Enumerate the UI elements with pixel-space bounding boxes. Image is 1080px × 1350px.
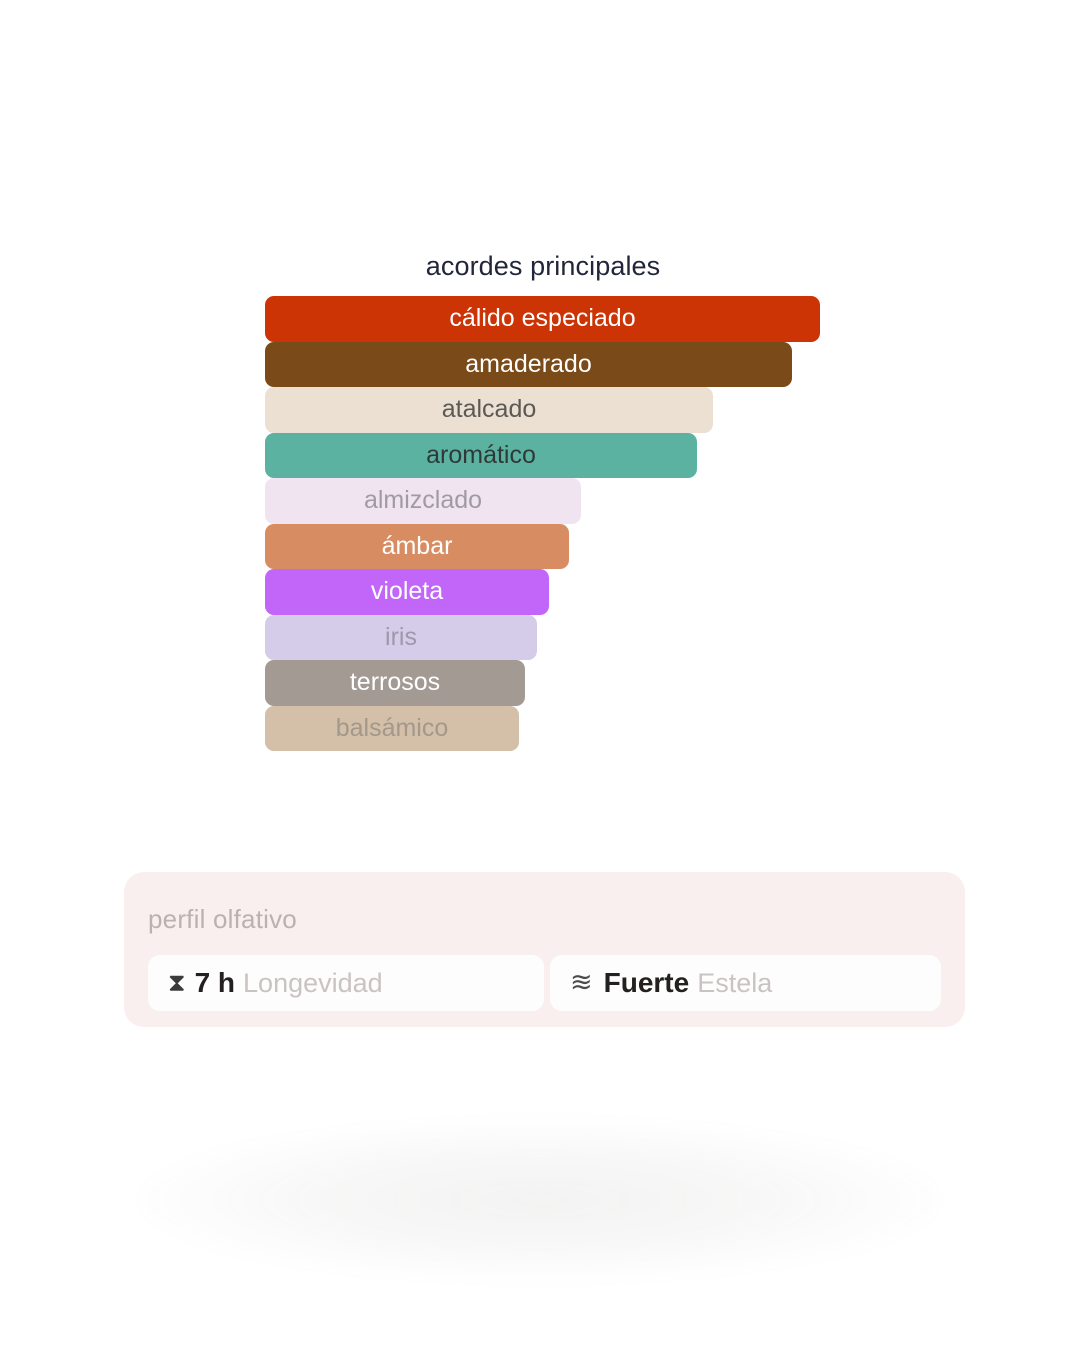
- bar-iris[interactable]: iris: [265, 615, 537, 661]
- bar-label: balsámico: [336, 716, 449, 741]
- wave-icon: ≋: [570, 969, 593, 996]
- bar-row: aromático: [265, 433, 834, 479]
- bar-label: violeta: [371, 579, 443, 604]
- accords-bar-list: cálido especiado amaderado atalcado arom…: [265, 296, 834, 751]
- bar-label: iris: [385, 625, 417, 650]
- longevity-value: 7 h: [195, 967, 235, 999]
- bar-row: balsámico: [265, 706, 834, 752]
- bar-balsamico[interactable]: balsámico: [265, 706, 519, 752]
- bar-label: cálido especiado: [449, 306, 635, 331]
- metric-sillage[interactable]: ≋ Fuerte Estela: [550, 955, 941, 1011]
- bar-row: terrosos: [265, 660, 834, 706]
- bottom-shadow: [140, 1120, 940, 1280]
- longevity-caption: Longevidad: [243, 968, 383, 999]
- bar-label: atalcado: [442, 397, 537, 422]
- bar-row: ámbar: [265, 524, 834, 570]
- bar-label: almizclado: [364, 488, 482, 513]
- hourglass-icon: ⧗: [168, 971, 186, 996]
- bar-amaderado[interactable]: amaderado: [265, 342, 792, 388]
- bar-row: amaderado: [265, 342, 834, 388]
- metric-longevity[interactable]: ⧗ 7 h Longevidad: [148, 955, 544, 1011]
- bar-row: iris: [265, 615, 834, 661]
- bar-terrosos[interactable]: terrosos: [265, 660, 525, 706]
- bar-calido-especiado[interactable]: cálido especiado: [265, 296, 820, 342]
- bar-row: cálido especiado: [265, 296, 834, 342]
- sillage-caption: Estela: [697, 968, 772, 999]
- bar-atalcado[interactable]: atalcado: [265, 387, 713, 433]
- bar-ambar[interactable]: ámbar: [265, 524, 569, 570]
- accords-chart-card: acordes principales cálido especiado ama…: [252, 243, 834, 773]
- bar-row: atalcado: [265, 387, 834, 433]
- bar-row: violeta: [265, 569, 834, 615]
- bar-almizclado[interactable]: almizclado: [265, 478, 581, 524]
- bar-label: terrosos: [350, 670, 440, 695]
- olfactory-profile-card: perfil olfativo ⧗ 7 h Longevidad ≋ Fuert…: [124, 872, 965, 1027]
- bar-row: almizclado: [265, 478, 834, 524]
- bar-label: aromático: [426, 443, 536, 468]
- sillage-value: Fuerte: [604, 967, 690, 999]
- bar-label: amaderado: [465, 352, 591, 377]
- chart-title: acordes principales: [252, 251, 834, 282]
- profile-metric-row: ⧗ 7 h Longevidad ≋ Fuerte Estela: [148, 955, 941, 1011]
- bar-violeta[interactable]: violeta: [265, 569, 549, 615]
- profile-heading: perfil olfativo: [148, 904, 297, 935]
- bar-label: ámbar: [382, 534, 453, 559]
- bar-aromatico[interactable]: aromático: [265, 433, 697, 479]
